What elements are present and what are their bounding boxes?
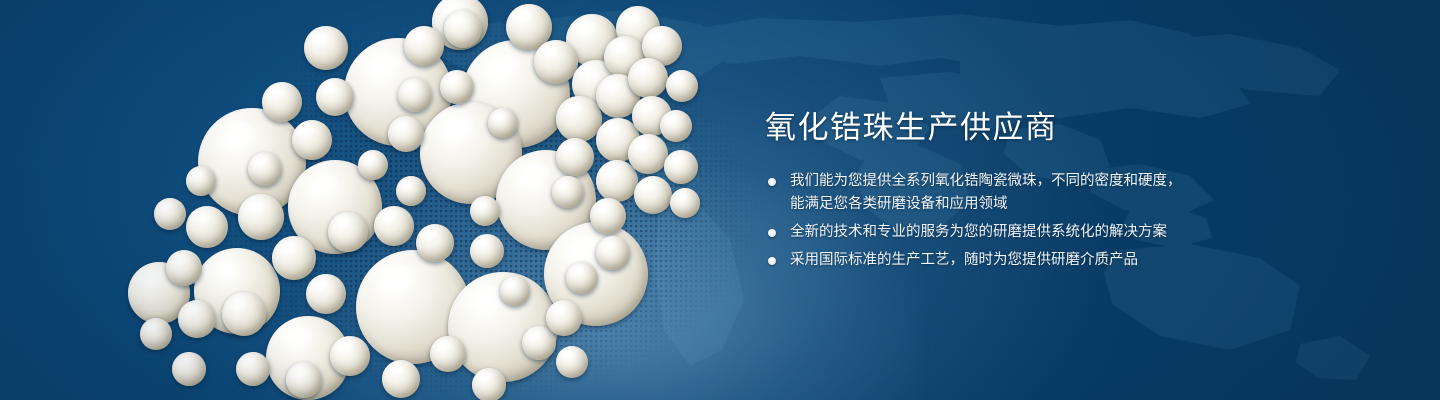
vignette-overlay (0, 0, 1440, 400)
hero-banner: 氧化锆珠生产供应商 我们能为您提供全系列氧化锆陶瓷微珠，不同的密度和硬度， 能满… (0, 0, 1440, 400)
